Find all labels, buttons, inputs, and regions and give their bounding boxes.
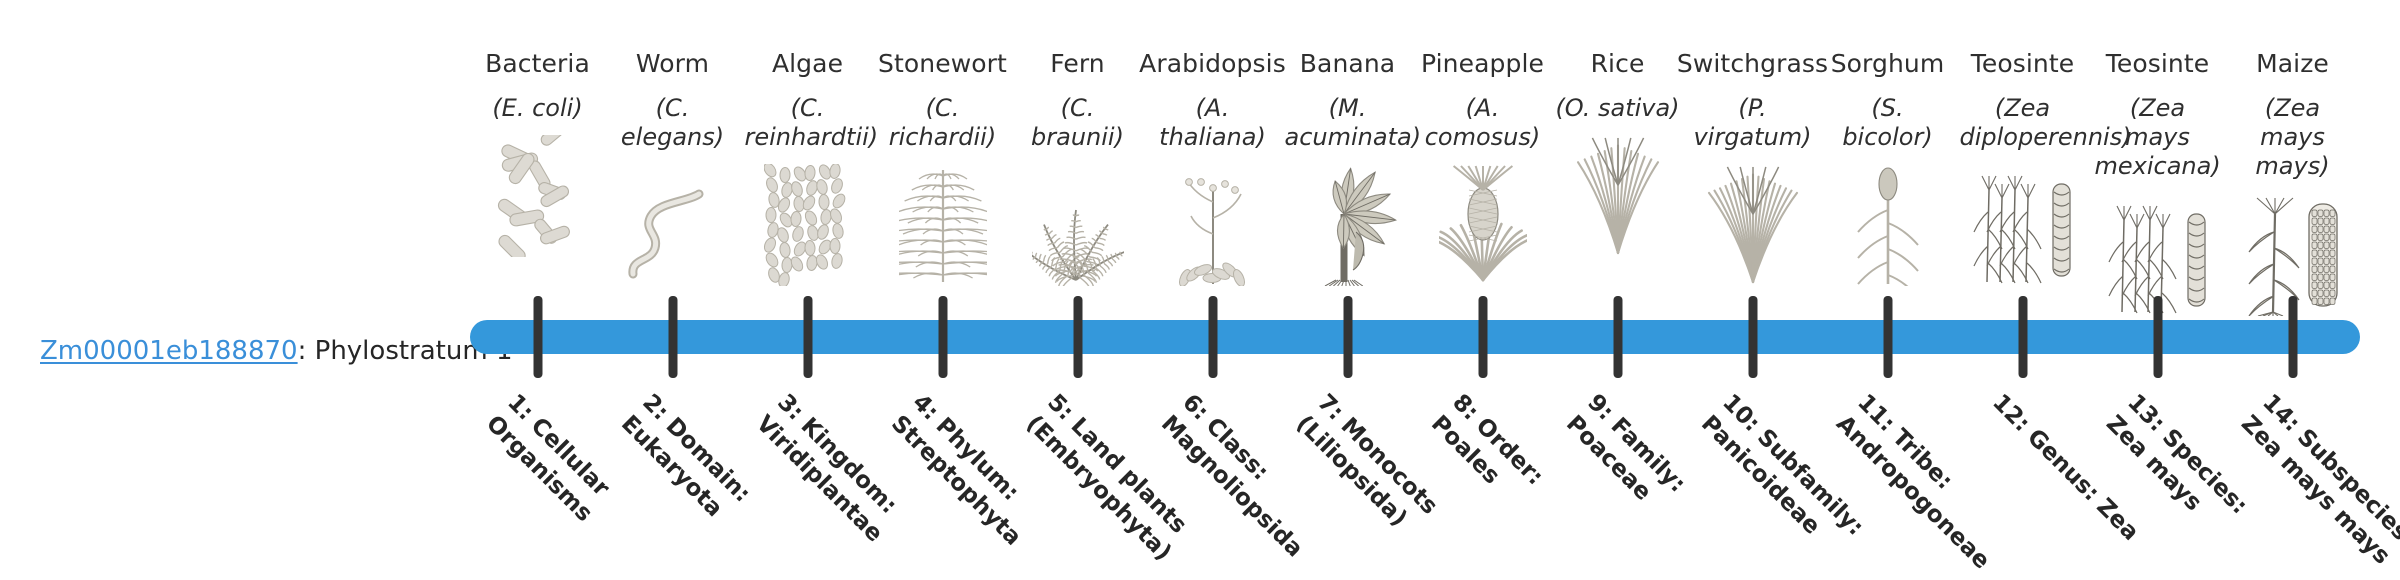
species-column: Banana(M. acuminata) — [1280, 50, 1415, 286]
fern-icon — [1010, 160, 1145, 286]
species-column: Maize(Zea mays mays) — [2225, 50, 2360, 316]
species-common-name: Bacteria — [485, 50, 590, 79]
species-column: Stonewort(C. richardii) — [875, 50, 1010, 286]
phylostratum-figure: Zm00001eb188870: Phylostratum 1 Bacteria… — [0, 0, 2400, 580]
species-common-name: Teosinte — [1971, 50, 2075, 79]
species-latin-name: (C. elegans) — [610, 94, 736, 153]
species-column: Teosinte(Zea mays mexicana) — [2090, 50, 2225, 316]
gene-id-link[interactable]: Zm00001eb188870 — [40, 336, 298, 366]
species-common-name: Sorghum — [1831, 50, 1945, 79]
species-header-row: Bacteria(E. coli)Worm(C. elegans)Algae(C… — [470, 50, 2360, 310]
species-common-name: Arabidopsis — [1139, 50, 1286, 79]
sorghum-icon — [1820, 160, 1955, 286]
switchgrass-icon — [1685, 160, 1820, 286]
teosinte-icon — [1955, 160, 2090, 286]
species-common-name: Fern — [1050, 50, 1104, 79]
worm-icon — [605, 160, 740, 286]
bacteria-icon — [470, 131, 605, 257]
pineapple-icon — [1415, 160, 1550, 286]
species-latin-name: (P. virgatum) — [1690, 94, 1816, 153]
species-common-name: Teosinte — [2106, 50, 2210, 79]
species-latin-name: (A. thaliana) — [1150, 94, 1276, 153]
species-common-name: Switchgrass — [1677, 50, 1828, 79]
rank-text: Cellular Organisms — [480, 407, 614, 527]
species-latin-name: (Zea mays mays) — [2230, 94, 2356, 182]
species-latin-name: (C. braunii) — [1015, 94, 1141, 153]
arabidopsis-icon — [1145, 160, 1280, 286]
species-column: Bacteria(E. coli) — [470, 50, 605, 257]
species-common-name: Stonewort — [878, 50, 1007, 79]
species-common-name: Algae — [772, 50, 843, 79]
species-common-name: Maize — [2256, 50, 2329, 79]
phylostratum-bar[interactable] — [470, 320, 2360, 354]
gene-label-separator: : — [298, 336, 315, 366]
species-latin-name: (C. reinhardtii) — [745, 94, 871, 153]
rank-text: Order: Poales — [1425, 407, 1547, 490]
species-column: Teosinte(Zea diploperennis) — [1955, 50, 2090, 286]
species-column: Algae(C. reinhardtii) — [740, 50, 875, 286]
species-column: Arabidopsis(A. thaliana) — [1145, 50, 1280, 286]
species-latin-name: (C. richardii) — [880, 94, 1006, 153]
species-column: Worm(C. elegans) — [605, 50, 740, 286]
taxonomy-rank-labels: 1: Cellular Organisms2: Domain: Eukaryot… — [470, 388, 2360, 580]
species-common-name: Worm — [636, 50, 709, 79]
species-common-name: Rice — [1591, 50, 1645, 79]
stonewort-icon — [875, 160, 1010, 286]
algae-icon — [740, 160, 875, 286]
banana-icon — [1280, 160, 1415, 286]
species-column: Rice(O. sativa) — [1550, 50, 1685, 257]
phylostratum-bar-track — [470, 320, 2360, 354]
maize-icon — [2225, 190, 2360, 316]
species-latin-name: (M. acuminata) — [1285, 94, 1411, 153]
gene-phylostratum-label: Zm00001eb188870: Phylostratum 1 — [40, 337, 512, 366]
species-latin-name: (Zea mays mexicana) — [2095, 94, 2221, 182]
species-latin-name: (O. sativa) — [1555, 94, 1679, 123]
rank-text: Family: Poaceae — [1560, 407, 1690, 506]
teosinte-icon — [2090, 190, 2225, 316]
species-column: Pineapple(A. comosus) — [1415, 50, 1550, 286]
species-latin-name: (E. coli) — [492, 94, 582, 123]
species-common-name: Pineapple — [1421, 50, 1544, 79]
species-latin-name: (Zea diploperennis) — [1960, 94, 2086, 153]
species-common-name: Banana — [1300, 50, 1395, 79]
species-column: Switchgrass(P. virgatum) — [1685, 50, 1820, 286]
rice-icon — [1550, 131, 1685, 257]
species-column: Fern(C. braunii) — [1010, 50, 1145, 286]
species-column: Sorghum(S. bicolor) — [1820, 50, 1955, 286]
species-latin-name: (S. bicolor) — [1825, 94, 1951, 153]
species-latin-name: (A. comosus) — [1420, 94, 1546, 153]
